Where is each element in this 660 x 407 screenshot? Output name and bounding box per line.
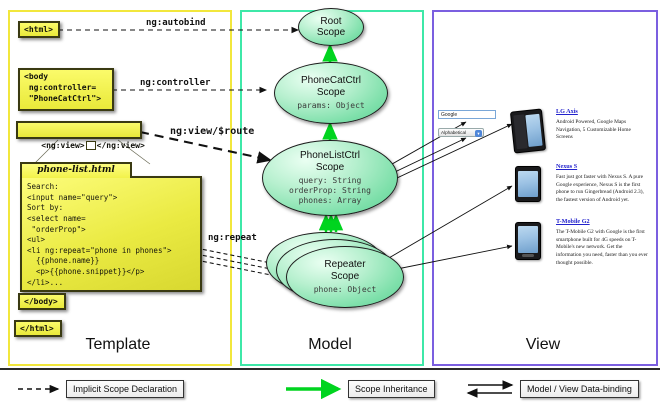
scope-phonelistctrl-title: PhoneListCtrl Scope — [300, 150, 360, 172]
scope-phonelistctrl: PhoneListCtrl Scope query: String orderP… — [262, 140, 398, 216]
legend-item-model-view-data-binding: Model / View Data-binding — [520, 380, 639, 398]
scope-repeater: Repeater Scope phone: Object — [286, 246, 404, 308]
chevron-down-icon: ▾ — [475, 130, 482, 137]
label-ng-view-route: ng:view/$route — [170, 126, 254, 137]
panel-label-template: Template — [8, 336, 228, 354]
label-ng-controller: ng:controller — [140, 78, 210, 88]
scope-phonecatctrl-props: params: Object — [297, 101, 364, 111]
phone-desc-tmobile-g2: The T-Mobile G2 with Google is the first… — [556, 229, 648, 267]
diagram-root: <html> <body ng:controller= "PhoneCatCtr… — [0, 0, 660, 405]
legend-item-scope-inheritance: Scope Inheritance — [348, 380, 435, 398]
scope-root-title: Root Scope — [317, 16, 345, 38]
legend: Implicit Scope Declaration Scope Inherit… — [0, 368, 660, 407]
phone-desc-lg-axis: Android Powered, Google Maps Navigation,… — [556, 119, 648, 142]
sort-select-value: Alphabetical — [441, 130, 466, 135]
phone-thumb-nexus-s — [515, 166, 541, 202]
scope-repeater-props: phone: Object — [314, 285, 377, 295]
ngview-placeholder — [86, 141, 96, 150]
ngview-open-label: <ng:view> — [41, 141, 84, 150]
ngview-close-label: </ng:view> — [97, 141, 145, 150]
phone-list-file-name: phone-list.html — [20, 162, 132, 178]
phone-title-tmobile-g2[interactable]: T-Mobile G2 — [556, 218, 590, 225]
html-open-tag: <html> — [18, 21, 60, 38]
body-controller-tag: <body ng:controller= "PhoneCatCtrl"> — [18, 68, 114, 111]
html-close-tag: </html> — [14, 320, 62, 337]
scope-repeater-title: Repeater Scope — [324, 259, 365, 281]
phone-list-file-code: Search: <input name="query"> Sort by: <s… — [20, 176, 202, 292]
phone-thumb-lg-axis — [510, 108, 546, 153]
label-ng-repeat: ng:repeat — [208, 233, 257, 243]
phone-desc-nexus-s: Fast just got faster with Nexus S. A pur… — [556, 174, 648, 205]
scope-phonelistctrl-props: query: String orderProp: String phones: … — [289, 176, 371, 206]
scope-root: Root Scope — [298, 8, 364, 46]
ngview-tag: <ng:view></ng:view> — [16, 121, 142, 139]
search-input[interactable]: Google — [438, 110, 496, 119]
label-ng-autobind: ng:autobind — [146, 18, 206, 28]
panel-label-view: View — [432, 336, 654, 354]
scope-phonecatctrl: PhoneCatCtrl Scope params: Object — [274, 62, 388, 124]
phone-title-lg-axis[interactable]: LG Axis — [556, 108, 578, 115]
sort-select: Alphabetical ▾ — [438, 128, 484, 137]
panel-label-model: Model — [240, 336, 420, 354]
phone-thumb-tmobile-g2 — [515, 222, 541, 260]
legend-item-implicit-scope-declaration: Implicit Scope Declaration — [66, 380, 184, 398]
scope-phonecatctrl-title: PhoneCatCtrl Scope — [301, 75, 361, 97]
body-close-tag: </body> — [18, 293, 66, 310]
phone-title-nexus-s[interactable]: Nexus S — [556, 163, 577, 170]
